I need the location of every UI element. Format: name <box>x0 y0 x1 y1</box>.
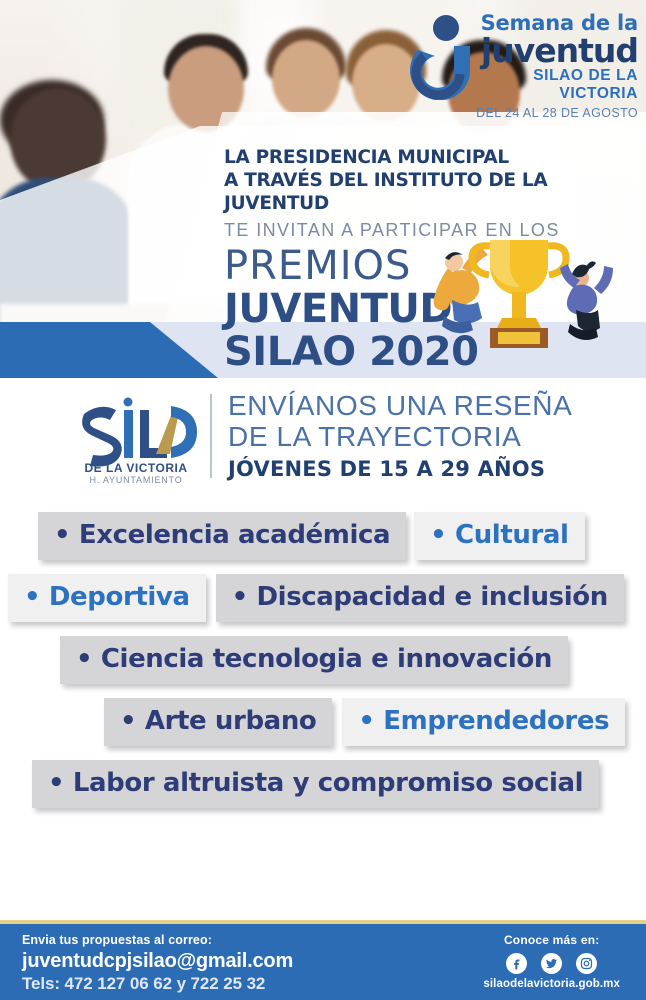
tag-discapacidad-inclusion[interactable]: • Discapacidad e inclusión <box>216 574 624 622</box>
tag-label: Cultural <box>455 520 569 550</box>
trophy-illustration <box>404 232 634 352</box>
tag-row-3: • Ciencia tecnologia e innovación <box>0 636 646 684</box>
tag-cultural[interactable]: • Cultural <box>414 512 584 560</box>
bullet-icon: • <box>48 768 64 798</box>
facebook-icon[interactable] <box>506 953 527 974</box>
band-divider <box>210 394 212 478</box>
footer-email-address[interactable]: juventudcpjsilao@gmail.com <box>22 949 293 973</box>
footer-website[interactable]: silaodelavictoria.gob.mx <box>483 978 620 990</box>
semana-logo-text: Semana de la juventud SILAO DE LA VICTOR… <box>476 12 638 121</box>
band-text-block: ENVÍANOS UNA RESEÑA DE LA TRAYECTORIA JÓ… <box>228 390 572 484</box>
bullet-icon: • <box>120 706 136 736</box>
footer-social-label: Conoce más en: <box>483 932 620 948</box>
person-left-figure <box>434 248 488 333</box>
tag-label: Arte urbano <box>145 706 317 736</box>
tag-row-5: • Labor altruista y compromiso social <box>0 760 646 808</box>
tag-ciencia-tecnologia-innovacion[interactable]: • Ciencia tecnologia e innovación <box>60 636 568 684</box>
band-line-1: ENVÍANOS UNA RESEÑA <box>228 390 572 421</box>
footer-bar: Envia tus propuestas al correo: juventud… <box>0 924 646 1000</box>
headline-line-1: LA PRESIDENCIA MUNICIPAL <box>224 146 636 169</box>
footer-contact-block: Envia tus propuestas al correo: juventud… <box>22 932 293 995</box>
silao-municipal-logo: DE LA VICTORIA H. AYUNTAMIENTO <box>72 392 200 486</box>
bullet-icon: • <box>76 644 92 674</box>
tag-label: Labor altruista y compromiso social <box>73 768 583 798</box>
trophy-cup <box>472 240 566 348</box>
band-line-3: JÓVENES DE 15 A 29 AÑOS <box>228 454 572 484</box>
tag-row-4: • Arte urbano • Emprendedores <box>0 698 646 746</box>
logo-line-dates: DEL 24 AL 28 DE AGOSTO <box>476 105 638 121</box>
person-c-head <box>272 40 340 118</box>
headline-line-2: A TRAVÉS DEL INSTITUTO DE LA JUVENTUD <box>224 169 636 215</box>
semana-juventud-logo: Semana de la juventud SILAO DE LA VICTOR… <box>400 6 638 110</box>
tag-label: Emprendedores <box>383 706 609 736</box>
bullet-icon: • <box>54 520 70 550</box>
silao-message-band: DE LA VICTORIA H. AYUNTAMIENTO ENVÍANOS … <box>0 378 646 508</box>
logo-line-silao: SILAO DE LA VICTORIA <box>476 67 638 103</box>
tag-label: Ciencia tecnologia e innovación <box>101 644 552 674</box>
tag-deportiva[interactable]: • Deportiva <box>8 574 206 622</box>
category-tag-list: • Excelencia académica • Cultural • Depo… <box>0 512 646 892</box>
tag-row-2: • Deportiva • Discapacidad e inclusión <box>0 574 646 622</box>
tag-row-1: • Excelencia académica • Cultural <box>0 512 646 560</box>
footer-email-label: Envia tus propuestas al correo: <box>22 932 293 949</box>
bullet-icon: • <box>24 582 40 612</box>
bullet-icon: • <box>232 582 248 612</box>
social-icon-row <box>483 953 620 974</box>
band-line-2: DE LA TRAYECTORIA <box>228 421 572 452</box>
footer-social-block: Conoce más en: silaodelavictoria.go <box>483 932 620 990</box>
hero-banner: Semana de la juventud SILAO DE LA VICTOR… <box>0 0 646 378</box>
bullet-icon: • <box>430 520 446 550</box>
bullet-icon: • <box>358 706 374 736</box>
tag-label: Discapacidad e inclusión <box>257 582 608 612</box>
svg-text:H. AYUNTAMIENTO: H. AYUNTAMIENTO <box>89 475 182 485</box>
tag-emprendedores[interactable]: • Emprendedores <box>342 698 625 746</box>
tag-label: Excelencia académica <box>79 520 390 550</box>
instagram-icon[interactable] <box>576 953 597 974</box>
twitter-icon[interactable] <box>541 953 562 974</box>
tag-labor-altruista[interactable]: • Labor altruista y compromiso social <box>32 760 599 808</box>
logo-line-juventud: juventud <box>476 34 638 67</box>
footer-phones: Tels: 472 127 06 62 y 722 25 32 <box>22 973 293 995</box>
person-right-figure <box>560 261 613 340</box>
tag-excelencia-academica[interactable]: • Excelencia académica <box>38 512 406 560</box>
tag-arte-urbano[interactable]: • Arte urbano <box>104 698 332 746</box>
tag-label: Deportiva <box>49 582 190 612</box>
svg-text:DE LA VICTORIA: DE LA VICTORIA <box>84 461 187 475</box>
